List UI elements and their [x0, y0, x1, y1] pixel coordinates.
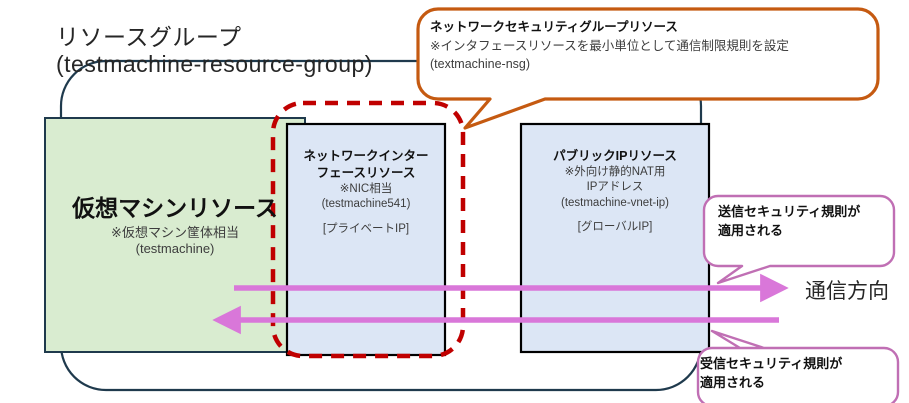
vm-resource-note: ※仮想マシン筐体相当	[46, 225, 304, 240]
nic-resource-id: (testmachine541)	[288, 197, 444, 213]
outbound-callout-line1: 送信セキュリティ規則が	[718, 203, 878, 222]
public-ip-resource-id: (testmachine-vnet-ip)	[522, 196, 708, 212]
vm-resource-label: 仮想マシンリソース ※仮想マシン筐体相当 (testmachine)	[46, 195, 304, 257]
inbound-callout-line2: 適用される	[700, 374, 870, 393]
nic-resource-title-line2: フェースリソース	[288, 165, 444, 182]
outbound-callout-line2: 適用される	[718, 222, 878, 241]
diagram-canvas: リソースグループ (testmachine-resource-group) 仮想…	[0, 0, 909, 403]
resource-group-title-line2: (testmachine-resource-group)	[56, 51, 373, 78]
public-ip-spacer	[522, 211, 708, 220]
nsg-callout-title: ネットワークセキュリティグループリソース	[430, 18, 864, 37]
outbound-callout-text: 送信セキュリティ規則が 適用される	[718, 203, 878, 241]
public-ip-resource-label: パブリックIPリソース ※外向け静的NAT用 IPアドレス (testmachi…	[522, 148, 708, 236]
public-ip-resource-title: パブリックIPリソース	[522, 148, 708, 165]
nsg-callout-id: (textmachine-nsg)	[430, 55, 864, 73]
public-ip-note-line2: IPアドレス	[522, 180, 708, 196]
nic-resource-note: ※NIC相当	[288, 182, 444, 198]
public-ip-ip-label: [グローバルIP]	[522, 220, 708, 236]
nic-spacer	[288, 213, 444, 222]
public-ip-note-line1: ※外向け静的NAT用	[522, 165, 708, 181]
resource-group-title-line1: リソースグループ	[56, 24, 241, 50]
direction-label: 通信方向	[805, 280, 889, 305]
nic-resource-title-line1: ネットワークインター	[288, 148, 444, 165]
vm-resource-title: 仮想マシンリソース	[46, 195, 304, 222]
nsg-callout-text: ネットワークセキュリティグループリソース ※インタフェースリソースを最小単位とし…	[430, 18, 864, 73]
inbound-callout-line1: 受信セキュリティ規則が	[700, 355, 870, 374]
nic-ip-label: [プライベートIP]	[288, 222, 444, 238]
inbound-callout-text: 受信セキュリティ規則が 適用される	[700, 355, 870, 393]
vm-resource-id: (testmachine)	[46, 241, 304, 256]
resource-group-title: リソースグループ (testmachine-resource-group)	[56, 24, 373, 78]
nic-resource-label: ネットワークインター フェースリソース ※NIC相当 (testmachine5…	[288, 148, 444, 237]
nsg-callout-note: ※インタフェースリソースを最小単位として通信制限規則を設定	[430, 37, 864, 55]
